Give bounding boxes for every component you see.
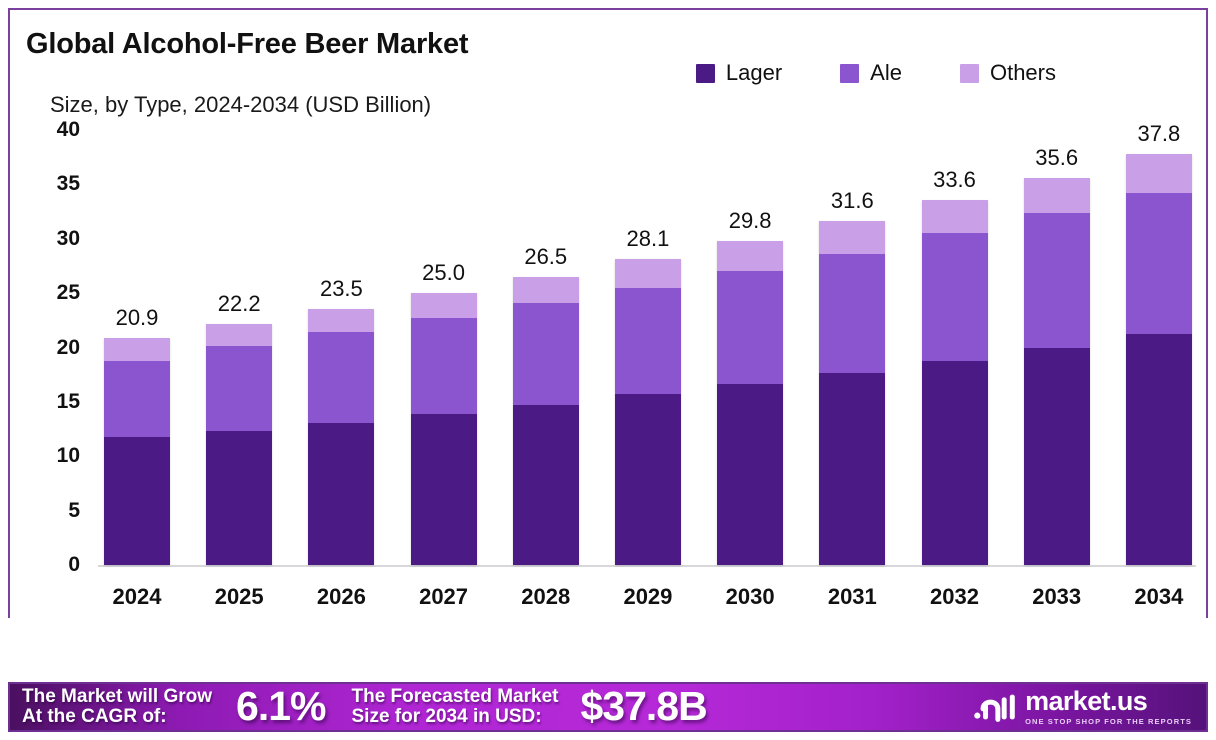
y-axis: 0510152025303540 xyxy=(10,130,90,565)
footer: The Market will Grow At the CAGR of: 6.1… xyxy=(8,682,1208,732)
footer-banner: The Market will Grow At the CAGR of: 6.1… xyxy=(8,682,1208,732)
stacked-bar[interactable] xyxy=(308,309,374,565)
x-axis-tick: 2028 xyxy=(509,584,583,610)
stacked-bar[interactable] xyxy=(717,241,783,565)
x-axis-tick: 2034 xyxy=(1122,584,1196,610)
bar-segment-others[interactable] xyxy=(411,293,477,318)
bar-segment-lager[interactable] xyxy=(717,384,783,565)
logo-name: market.us xyxy=(1025,688,1192,715)
bar-column[interactable]: 28.1 xyxy=(611,130,685,565)
bar-segment-others[interactable] xyxy=(513,277,579,303)
stacked-bar[interactable] xyxy=(615,259,681,565)
bar-segment-lager[interactable] xyxy=(206,431,272,565)
forecast-label-line1: The Forecasted Market xyxy=(352,687,559,707)
legend-swatch-icon xyxy=(840,64,859,83)
bar-segment-ale[interactable] xyxy=(206,346,272,431)
stacked-bar[interactable] xyxy=(922,200,988,565)
page-title: Global Alcohol-Free Beer Market xyxy=(26,28,468,61)
bar-column[interactable]: 37.8 xyxy=(1122,130,1196,565)
x-axis-tick: 2026 xyxy=(304,584,378,610)
stacked-bar[interactable] xyxy=(819,221,885,565)
bar-total-label: 33.6 xyxy=(933,167,976,193)
bar-segment-lager[interactable] xyxy=(1126,334,1192,565)
bar-segment-lager[interactable] xyxy=(308,423,374,565)
bar-segment-others[interactable] xyxy=(615,259,681,287)
legend-swatch-icon xyxy=(696,64,715,83)
infographic-root: Global Alcohol-Free Beer Market Size, by… xyxy=(0,0,1216,740)
cagr-label-line2: At the CAGR of: xyxy=(22,707,212,727)
bar-segment-ale[interactable] xyxy=(513,303,579,405)
x-axis-tick: 2031 xyxy=(815,584,889,610)
logo-text: market.us ONE STOP SHOP FOR THE REPORTS xyxy=(1025,688,1192,726)
x-axis-tick: 2032 xyxy=(918,584,992,610)
bar-segment-lager[interactable] xyxy=(104,437,170,565)
y-axis-tick: 25 xyxy=(10,281,80,305)
bar-total-label: 31.6 xyxy=(831,188,874,214)
bar-segment-others[interactable] xyxy=(308,309,374,332)
legend-item-label: Lager xyxy=(726,60,782,86)
y-axis-tick: 35 xyxy=(10,172,80,196)
bar-column[interactable]: 33.6 xyxy=(918,130,992,565)
bar-column[interactable]: 31.6 xyxy=(815,130,889,565)
legend-swatch-icon xyxy=(960,64,979,83)
cagr-value: 6.1% xyxy=(236,685,325,728)
bar-total-label: 22.2 xyxy=(218,291,261,317)
x-axis-tick: 2029 xyxy=(611,584,685,610)
bar-segment-others[interactable] xyxy=(104,338,170,361)
x-axis-line xyxy=(98,565,1196,567)
bar-segment-lager[interactable] xyxy=(513,405,579,565)
bar-segment-ale[interactable] xyxy=(922,233,988,360)
bar-column[interactable]: 25.0 xyxy=(407,130,481,565)
bar-total-label: 25.0 xyxy=(422,260,465,286)
stacked-bar[interactable] xyxy=(411,293,477,565)
x-axis-tick: 2033 xyxy=(1020,584,1094,610)
bar-segment-others[interactable] xyxy=(1126,154,1192,193)
bar-segment-lager[interactable] xyxy=(1024,348,1090,566)
stacked-bar[interactable] xyxy=(513,277,579,565)
bar-segment-others[interactable] xyxy=(922,200,988,234)
x-axis-tick: 2025 xyxy=(202,584,276,610)
stacked-bar[interactable] xyxy=(1126,154,1192,565)
bar-total-label: 23.5 xyxy=(320,276,363,302)
y-axis-tick: 15 xyxy=(10,390,80,414)
stacked-bar[interactable] xyxy=(1024,178,1090,565)
legend-item-lager[interactable]: Lager xyxy=(696,60,782,86)
bar-total-label: 29.8 xyxy=(729,208,772,234)
bar-column[interactable]: 35.6 xyxy=(1020,130,1094,565)
bar-segment-ale[interactable] xyxy=(615,288,681,395)
bar-total-label: 26.5 xyxy=(524,244,567,270)
forecast-label: The Forecasted Market Size for 2034 in U… xyxy=(352,687,559,727)
bar-total-label: 35.6 xyxy=(1035,145,1078,171)
plot-area: 0510152025303540 20.922.223.525.026.528.… xyxy=(10,130,1206,616)
legend-item-others[interactable]: Others xyxy=(960,60,1056,86)
bar-segment-ale[interactable] xyxy=(717,271,783,384)
chart-subtitle: Size, by Type, 2024-2034 (USD Billion) xyxy=(50,92,431,118)
cagr-label-line1: The Market will Grow xyxy=(22,687,212,707)
bar-segment-ale[interactable] xyxy=(1024,213,1090,348)
y-axis-tick: 10 xyxy=(10,444,80,468)
market-us-logo-icon xyxy=(973,691,1017,723)
stacked-bar[interactable] xyxy=(104,338,170,565)
x-axis-tick: 2030 xyxy=(713,584,787,610)
bar-segment-ale[interactable] xyxy=(411,318,477,414)
cagr-label: The Market will Grow At the CAGR of: xyxy=(22,687,212,727)
legend-item-label: Others xyxy=(990,60,1056,86)
bar-segment-lager[interactable] xyxy=(615,394,681,565)
bar-segment-ale[interactable] xyxy=(308,332,374,422)
bar-column[interactable]: 26.5 xyxy=(509,130,583,565)
bar-total-label: 28.1 xyxy=(627,226,670,252)
bar-segment-others[interactable] xyxy=(1024,178,1090,213)
bar-segment-others[interactable] xyxy=(717,241,783,271)
chart-legend: LagerAleOthers xyxy=(696,60,1056,86)
x-axis-tick: 2024 xyxy=(100,584,174,610)
chart-card: Global Alcohol-Free Beer Market Size, by… xyxy=(8,8,1208,618)
bar-group: 20.922.223.525.026.528.129.831.633.635.6… xyxy=(100,130,1196,565)
bar-segment-lager[interactable] xyxy=(411,414,477,565)
bar-segment-ale[interactable] xyxy=(104,361,170,437)
bar-total-label: 37.8 xyxy=(1137,121,1180,147)
y-axis-tick: 20 xyxy=(10,336,80,360)
x-axis-tick: 2027 xyxy=(407,584,481,610)
bar-segment-ale[interactable] xyxy=(819,254,885,373)
forecast-value: $37.8B xyxy=(580,685,706,728)
bar-column[interactable]: 22.2 xyxy=(202,130,276,565)
logo-tagline: ONE STOP SHOP FOR THE REPORTS xyxy=(1025,718,1192,726)
bar-segment-ale[interactable] xyxy=(1126,193,1192,334)
bar-segment-lager[interactable] xyxy=(819,373,885,565)
bar-segment-others[interactable] xyxy=(819,221,885,254)
legend-item-ale[interactable]: Ale xyxy=(840,60,902,86)
chart-header: Global Alcohol-Free Beer Market Size, by… xyxy=(10,10,1206,130)
bar-segment-lager[interactable] xyxy=(922,361,988,565)
stacked-bar[interactable] xyxy=(206,324,272,565)
market-us-logo[interactable]: market.us ONE STOP SHOP FOR THE REPORTS xyxy=(973,688,1192,726)
bar-total-label: 20.9 xyxy=(116,305,159,331)
y-axis-tick: 5 xyxy=(10,499,80,523)
bar-column[interactable]: 20.9 xyxy=(100,130,174,565)
y-axis-tick: 40 xyxy=(10,118,80,142)
forecast-label-line2: Size for 2034 in USD: xyxy=(352,707,559,727)
bar-segment-others[interactable] xyxy=(206,324,272,347)
y-axis-tick: 30 xyxy=(10,227,80,251)
bar-column[interactable]: 29.8 xyxy=(713,130,787,565)
bar-column[interactable]: 23.5 xyxy=(304,130,378,565)
y-axis-tick: 0 xyxy=(10,553,80,577)
x-axis: 2024202520262027202820292030203120322033… xyxy=(100,578,1196,616)
legend-item-label: Ale xyxy=(870,60,902,86)
